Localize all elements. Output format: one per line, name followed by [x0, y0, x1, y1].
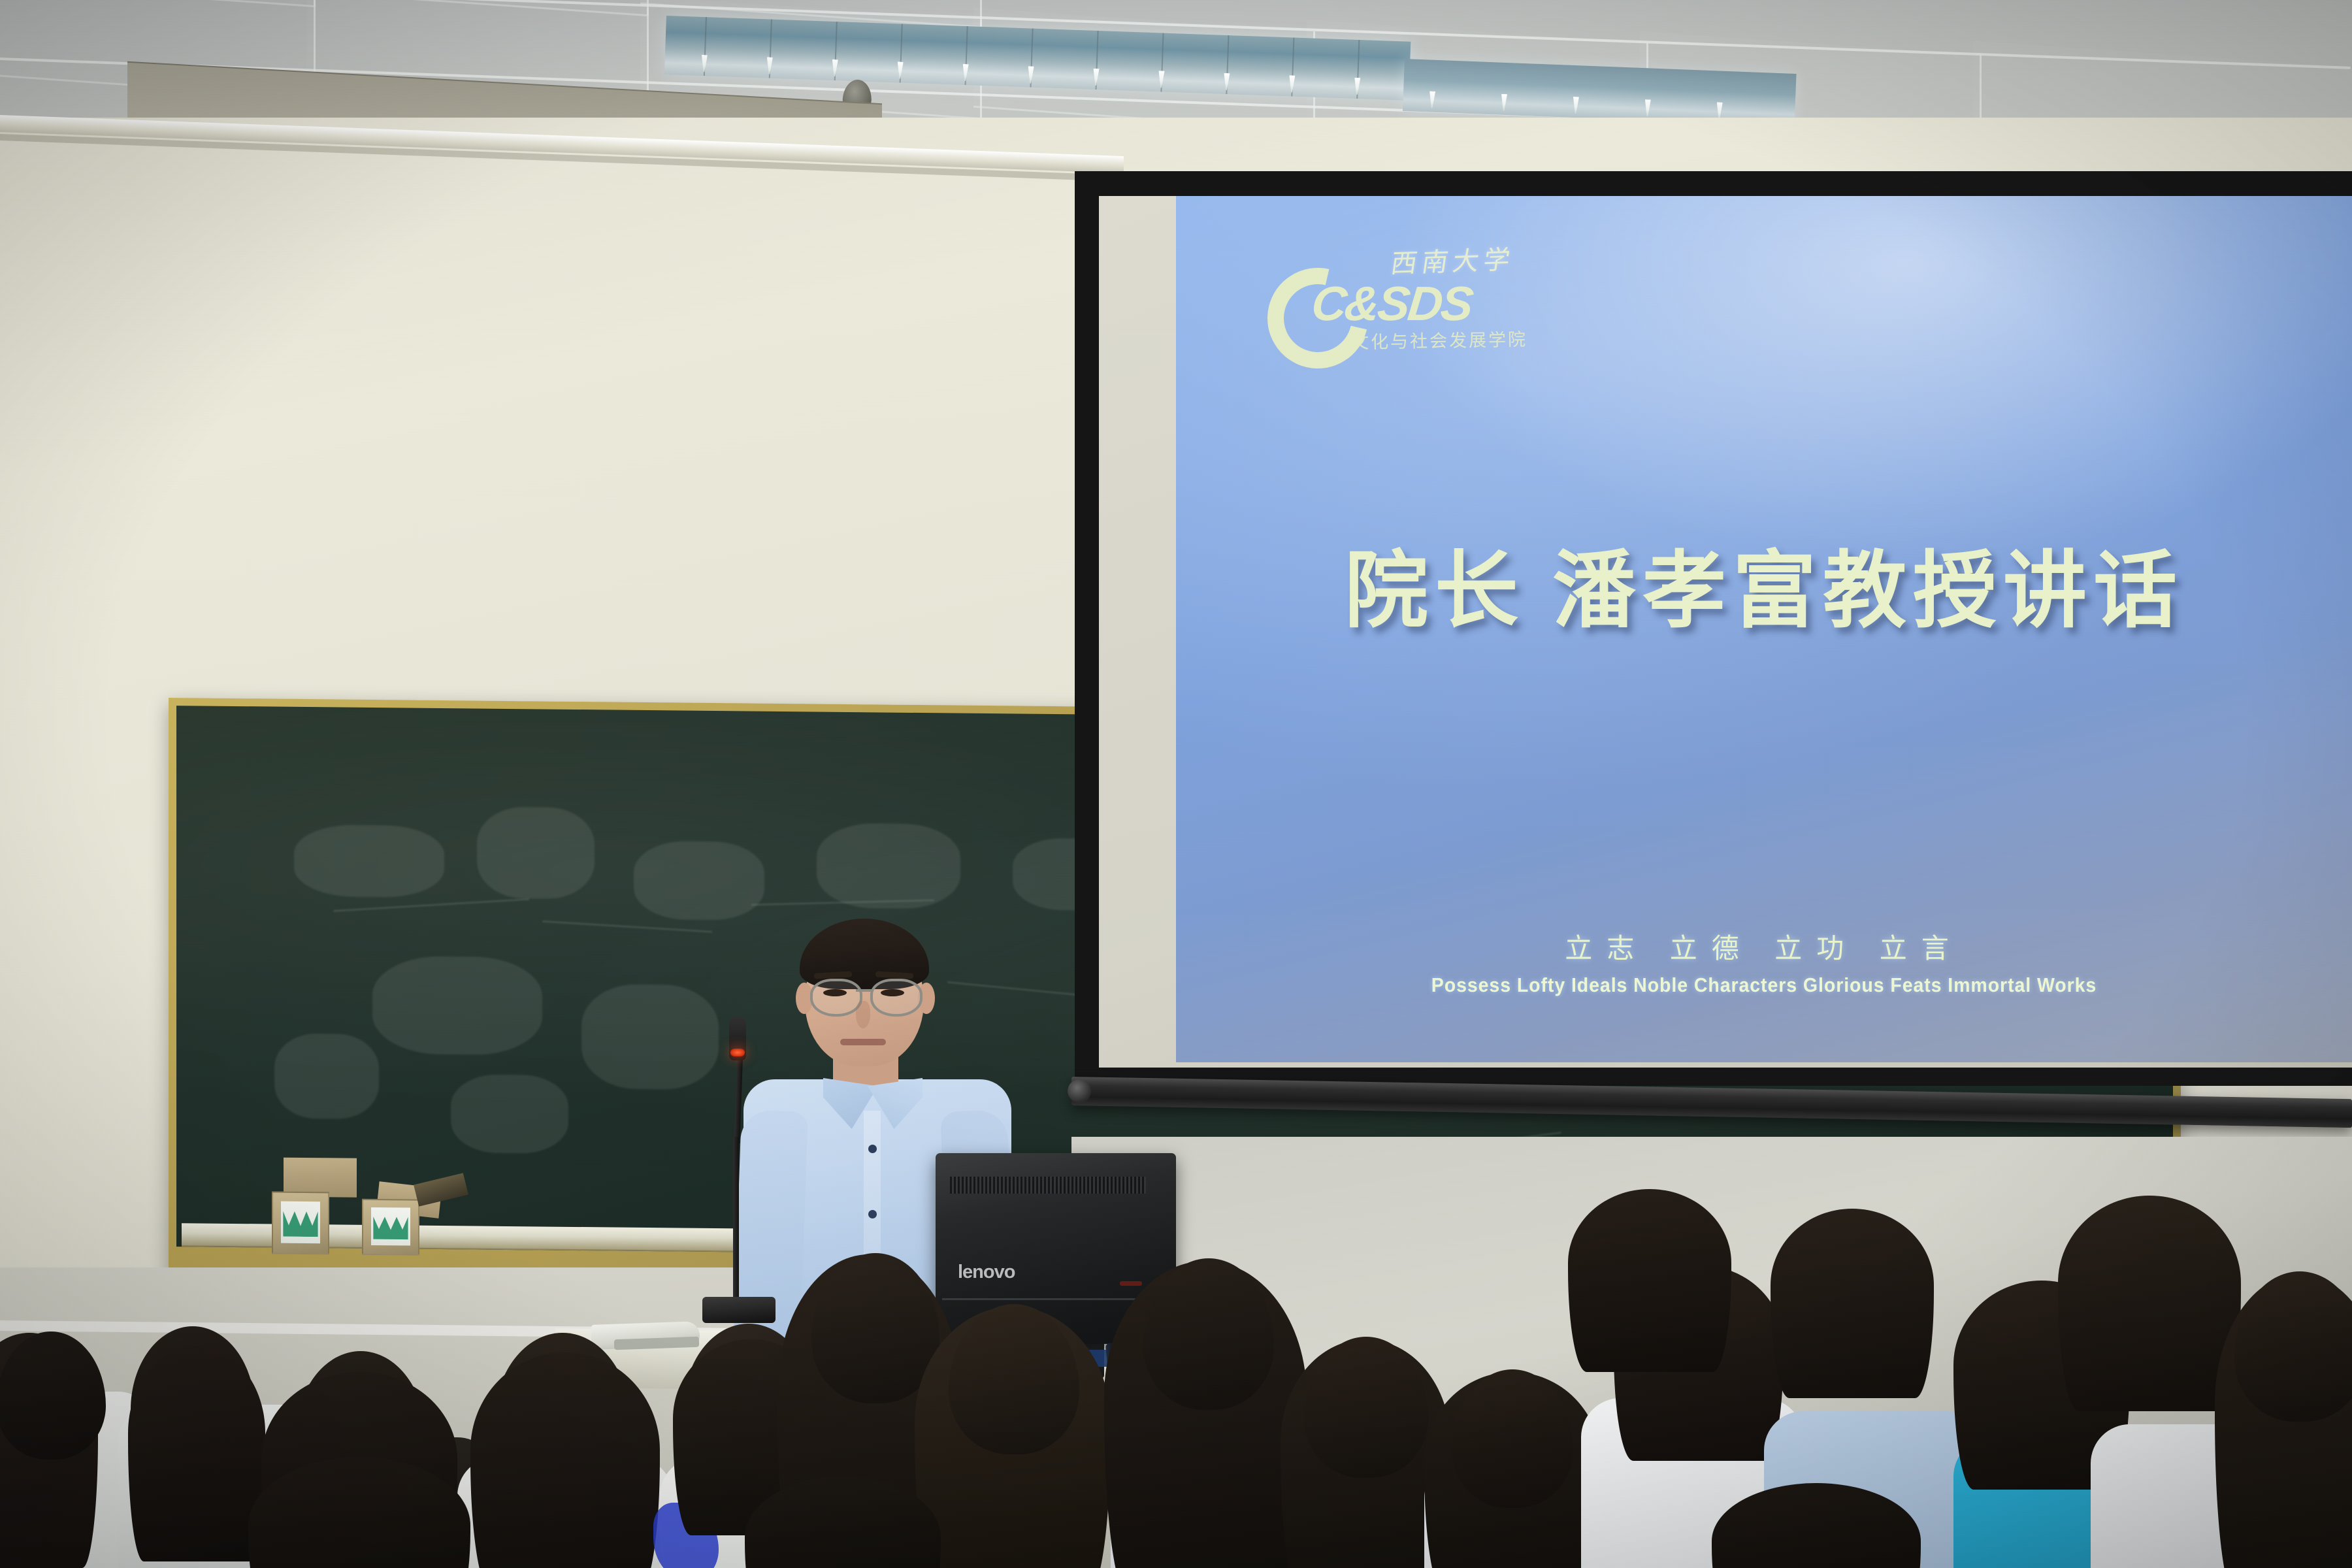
audience — [0, 1176, 2352, 1568]
speaker-eyeglasses-left — [810, 979, 862, 1017]
slide-logo: 西南大学 C&SDS 文化与社会发展学院 — [1267, 240, 1568, 351]
audience-hair — [1771, 1209, 1934, 1398]
slide-motto-chinese: 立志 立德 立功 立言 — [1176, 926, 2352, 966]
microphone-status-led — [730, 1049, 745, 1056]
logo-university-name: 西南大学 — [1388, 238, 1517, 281]
slide-motto-english: Possess Lofty Ideals Noble Characters Gl… — [1223, 973, 2305, 997]
logo-acronym: C&SDS — [1309, 276, 1475, 331]
speaker-mouth — [840, 1039, 886, 1045]
audience-hair — [470, 1352, 660, 1568]
speaker-nose — [856, 1001, 870, 1028]
audience-hair — [1568, 1189, 1731, 1372]
audience-hair — [2058, 1196, 2241, 1411]
slide-title: 院长 潘孝富教授讲话 — [1176, 523, 2352, 644]
speaker-eye-left — [823, 989, 847, 996]
classroom-photo-scene: 西南大学 C&SDS 文化与社会发展学院 院长 潘孝富教授讲话 立志 立德 立功… — [0, 0, 2352, 1568]
logo-school-name: 文化与社会发展学院 — [1351, 325, 1528, 354]
audience-hair — [128, 1346, 265, 1561]
presentation-slide: 西南大学 C&SDS 文化与社会发展学院 院长 潘孝富教授讲话 立志 立德 立功… — [1176, 196, 2352, 1062]
speaker-eyeglasses-bridge — [856, 989, 872, 992]
speaker-eyeglasses-right — [870, 979, 923, 1017]
audience-head — [2234, 1271, 2352, 1422]
audience-head — [0, 1331, 106, 1460]
speaker-eye-right — [881, 989, 904, 996]
projection-screen-surface: 西南大学 C&SDS 文化与社会发展学院 院长 潘孝富教授讲话 立志 立德 立功… — [1099, 196, 2352, 1068]
projection-screen-roller-cap — [1068, 1079, 1091, 1103]
